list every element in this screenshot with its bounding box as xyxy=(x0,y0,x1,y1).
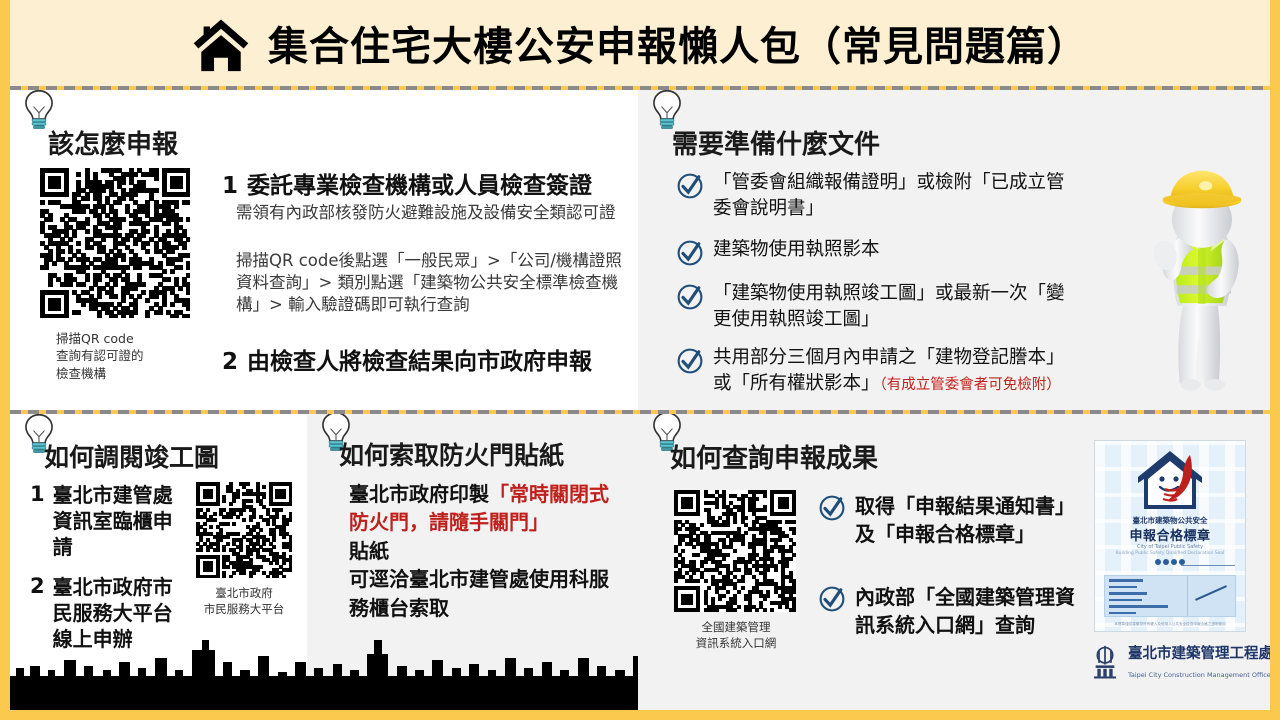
check-circle-icon xyxy=(676,172,704,200)
documents-checklist: 「管委會組織報備證明」或檢附「已成立管委會說明書」 建築物使用執照影本 xyxy=(676,170,1076,398)
citizen-service-platform-qr-caption: 臺北市政府 市民服務大平台 xyxy=(194,586,294,618)
step-2-title: 由檢查人將檢查結果向市政府申報 xyxy=(247,349,592,375)
step-1-detail-1: 需領有內政部核發防火避難設施及設備安全類認可證 xyxy=(236,202,634,224)
result-item: 內政部「全國建築管理資訊系統入口網」查詢 xyxy=(818,583,1084,640)
completion-drawing-steps: 1 臺北市建管處資訊室臨櫃申請 2 臺北市政府市民服務大平台線上申辦 xyxy=(30,482,190,652)
check-circle-icon xyxy=(676,283,704,311)
step-2-heading: 2 由檢查人將檢查結果向市政府申報 xyxy=(222,342,592,376)
document-item-note: （有成立管委會者可免檢附） xyxy=(880,377,1061,393)
panel-fire-door-sticker: 如何索取防火門貼紙 臺北市政府印製「常時關閉式防火門，請隨手關門」 貼紙 可逕洽… xyxy=(307,414,638,710)
document-item: 共用部分三個月內申請之「建物登記謄本」或「所有權狀影本」（有成立管委會者可免檢附… xyxy=(676,345,1076,398)
step-number: 2 xyxy=(30,574,45,652)
sticker-line-1: 臺北市政府印製 xyxy=(349,482,489,506)
signature-mark xyxy=(1195,585,1227,601)
step-text: 臺北市政府市民服務大平台線上申辦 xyxy=(53,574,190,652)
step-2-number: 2 xyxy=(222,349,239,375)
infographic-poster: 集合住宅大樓公安申報懶人包（常見問題篇） 該怎麼申報 掃描QR code 查詢有… xyxy=(0,0,1280,720)
section-title-how-to-file: 該怎麼申報 xyxy=(48,124,178,161)
seal-house-logo xyxy=(1132,449,1208,511)
seal-footnote: 本標章僅供建築物所有權人及使用人公共安全檢查申報合格之證明使用 xyxy=(1095,622,1245,627)
sticker-line-3: 貼紙 xyxy=(349,539,389,563)
qr-canvas[interactable] xyxy=(196,482,292,578)
qr-canvas[interactable] xyxy=(674,490,796,612)
document-item-text: 建築物使用執照影本 xyxy=(713,237,880,263)
page-title: 集合住宅大樓公安申報懶人包（常見問題篇） xyxy=(268,14,1088,72)
check-circle-icon xyxy=(676,239,704,267)
document-item-text: 「管委會組織報備證明」或檢附「已成立管委會說明書」 xyxy=(713,170,1076,223)
seal-detail-lines xyxy=(1105,576,1187,616)
step-number: 1 xyxy=(30,482,45,560)
list-item: 1 臺北市建管處資訊室臨櫃申請 xyxy=(30,482,190,560)
qualified-declaration-seal-card: 臺北市建築物公共安全 申報合格標章 City of Taipei Public … xyxy=(1094,440,1246,632)
seal-detail-box xyxy=(1104,575,1236,617)
national-building-admin-portal-qr[interactable] xyxy=(674,490,796,612)
seal-rule xyxy=(1181,565,1235,566)
fire-door-sticker-body: 臺北市政府印製「常時關閉式防火門，請隨手關門」 貼紙 可逕洽臺北市建管處使用科服… xyxy=(349,480,625,622)
step-1-detail-2: 掃描QR code後點選「一般民眾」>「公司/機構證照資料查詢」> 類別點選「建… xyxy=(236,250,636,316)
check-circle-icon xyxy=(676,347,704,375)
seal-signature-area xyxy=(1187,576,1235,616)
result-item-text: 取得「申報結果通知書」及「申報合格標章」 xyxy=(855,492,1084,549)
step-1-heading: 1 委託專業檢查機構或人員檢查簽證 xyxy=(222,166,592,200)
document-item-text: 共用部分三個月內申請之「建物登記謄本」或「所有權狀影本」（有成立管委會者可免檢附… xyxy=(713,345,1076,398)
cmo-name-en: Taipei City Construction Management Offi… xyxy=(1128,671,1270,679)
result-item-text: 內政部「全國建築管理資訊系統入口網」查詢 xyxy=(855,583,1084,640)
poster-header: 集合住宅大樓公安申報懶人包（常見問題篇） xyxy=(10,0,1270,86)
cmo-name-zh: 臺北市建築管理工程處 xyxy=(1128,646,1270,662)
seal-line-2: 申報合格標章 xyxy=(1095,525,1245,544)
section-title-check-results: 如何查詢申報成果 xyxy=(670,438,878,475)
panel-documents: 需要準備什麼文件 「管委會組織報備證明」或檢附「已成立管委會說明書」 xyxy=(638,90,1270,410)
inspection-agency-qr[interactable] xyxy=(40,168,190,318)
seal-line-3: City of Taipei Public Safety xyxy=(1095,544,1245,550)
check-circle-icon xyxy=(818,585,846,613)
document-item: 「建築物使用執照竣工圖」或最新一次「變更使用執照竣工圖」 xyxy=(676,281,1076,334)
construction-worker-figure xyxy=(1140,138,1262,410)
cmo-emblem-icon xyxy=(1088,645,1122,679)
document-item: 「管委會組織報備證明」或檢附「已成立管委會說明書」 xyxy=(676,170,1076,223)
result-item: 取得「申報結果通知書」及「申報合格標章」 xyxy=(818,492,1084,549)
check-results-list: 取得「申報結果通知書」及「申報合格標章」 內政部「全國建築管理資訊系統入口網」查… xyxy=(818,492,1084,640)
panel-check-results: 如何查詢申報成果 全國建築管理 資訊系統入口網 取得「申報結果通知書」及「申報合… xyxy=(638,414,1270,710)
document-item: 建築物使用執照影本 xyxy=(676,237,1076,267)
home-icon xyxy=(192,16,250,74)
document-item-text: 「建築物使用執照竣工圖」或最新一次「變更使用執照竣工圖」 xyxy=(713,281,1076,334)
taipei-cmo-logo: 臺北市建築管理工程處 Taipei City Construction Mana… xyxy=(1088,642,1260,682)
section-title-fire-door-sticker: 如何索取防火門貼紙 xyxy=(339,436,564,472)
inspection-agency-qr-caption: 掃描QR code 查詢有認可證的 檢查機構 xyxy=(56,330,144,382)
seal-line-4: Building Public Safety Qualified Declara… xyxy=(1095,551,1245,556)
qr-canvas[interactable] xyxy=(40,168,190,318)
panel-completion-drawing: 如何調閱竣工圖 1 臺北市建管處資訊室臨櫃申請 2 臺北市政府市民服務大平台線上… xyxy=(10,414,307,710)
check-circle-icon xyxy=(818,494,846,522)
section-title-documents: 需要準備什麼文件 xyxy=(672,124,880,161)
national-portal-qr-caption: 全國建築管理 資訊系統入口網 xyxy=(668,620,804,652)
section-title-completion-drawing: 如何調閱竣工圖 xyxy=(44,438,219,474)
panel-how-to-file: 該怎麼申報 掃描QR code 查詢有認可證的 檢查機構 1 委託專業檢查機構或… xyxy=(10,90,638,410)
step-text: 臺北市建管處資訊室臨櫃申請 xyxy=(53,482,190,560)
citizen-service-platform-qr[interactable] xyxy=(196,482,292,578)
step-1-title: 委託專業檢查機構或人員檢查簽證 xyxy=(247,173,592,199)
list-item: 2 臺北市政府市民服務大平台線上申辦 xyxy=(30,574,190,652)
sticker-line-4: 可逕洽臺北市建管處使用科服務櫃台索取 xyxy=(349,567,609,619)
step-1-number: 1 xyxy=(222,173,239,199)
